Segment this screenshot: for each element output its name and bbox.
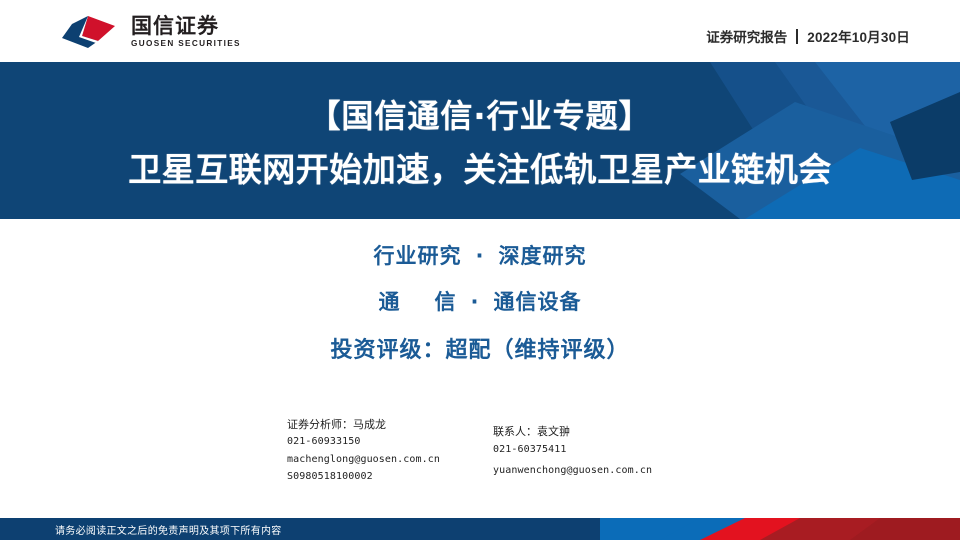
analyst-license-number: S0980518100002 — [287, 468, 440, 486]
industry-char-2: 信 — [435, 290, 457, 314]
brand-logo: 国信证券 GUOSEN SECURITIES — [58, 14, 241, 50]
report-classification: 行业研究·深度研究 通信·通信设备 投资评级：超配（维持评级） — [0, 240, 960, 364]
analyst-email[interactable]: machenglong@guosen.com.cn — [287, 451, 440, 469]
industry-subsector: 通信设备 — [493, 290, 581, 314]
page-header: 国信证券 GUOSEN SECURITIES 证券研究报告 2022年10月30… — [0, 0, 960, 62]
liaison-name: 联系人：袁文翀 — [493, 423, 652, 440]
investment-rating: 投资评级：超配（维持评级） — [330, 332, 629, 364]
banner-title-group: 【国信通信·行业专题】 卫星互联网开始加速，关注低轨卫星产业链机会 — [0, 62, 960, 219]
liaison-phone: 021-60375411 — [493, 440, 652, 461]
footer-disclaimer: 请务必阅读正文之后的免责声明及其项下所有内容 — [55, 518, 282, 540]
research-depth: 深度研究 — [498, 244, 586, 268]
title-banner: 【国信通信·行业专题】 卫星互联网开始加速，关注低轨卫星产业链机会 — [0, 62, 960, 219]
analyst-name: 证券分析师：马成龙 — [287, 416, 440, 433]
header-divider — [796, 29, 798, 44]
research-type: 行业研究 — [374, 244, 462, 268]
report-type-label: 证券研究报告 — [706, 26, 787, 46]
liaison-email[interactable]: yuanwenchong@guosen.com.cn — [493, 461, 652, 482]
industry-line: 通信·通信设备 — [379, 286, 582, 316]
brand-name-en: GUOSEN SECURITIES — [131, 39, 241, 49]
report-title-line-1: 【国信通信·行业专题】 — [308, 91, 651, 137]
research-category-line: 行业研究·深度研究 — [374, 240, 587, 270]
industry-char-1: 通 — [379, 290, 401, 314]
industry-dot: · — [471, 290, 480, 314]
brand-name-cn: 国信证券 — [131, 15, 241, 37]
contact-section: 证券分析师：马成龙 021-60933150 machenglong@guose… — [0, 416, 960, 496]
liaison-contact-block: 联系人：袁文翀 021-60375411 yuanwenchong@guosen… — [493, 423, 652, 481]
page-footer: 请务必阅读正文之后的免责声明及其项下所有内容 — [0, 518, 960, 540]
report-title-line-2: 卫星互联网开始加速，关注低轨卫星产业链机会 — [128, 143, 832, 191]
report-cover-page: 国信证券 GUOSEN SECURITIES 证券研究报告 2022年10月30… — [0, 0, 960, 540]
research-dot-1: · — [476, 244, 485, 268]
brand-logo-text: 国信证券 GUOSEN SECURITIES — [131, 15, 241, 49]
report-date: 2022年10月30日 — [807, 26, 910, 46]
analyst-contact-block: 证券分析师：马成龙 021-60933150 machenglong@guose… — [287, 416, 440, 486]
analyst-phone: 021-60933150 — [287, 433, 440, 451]
header-meta: 证券研究报告 2022年10月30日 — [706, 26, 910, 46]
guosen-logo-icon — [58, 14, 122, 50]
